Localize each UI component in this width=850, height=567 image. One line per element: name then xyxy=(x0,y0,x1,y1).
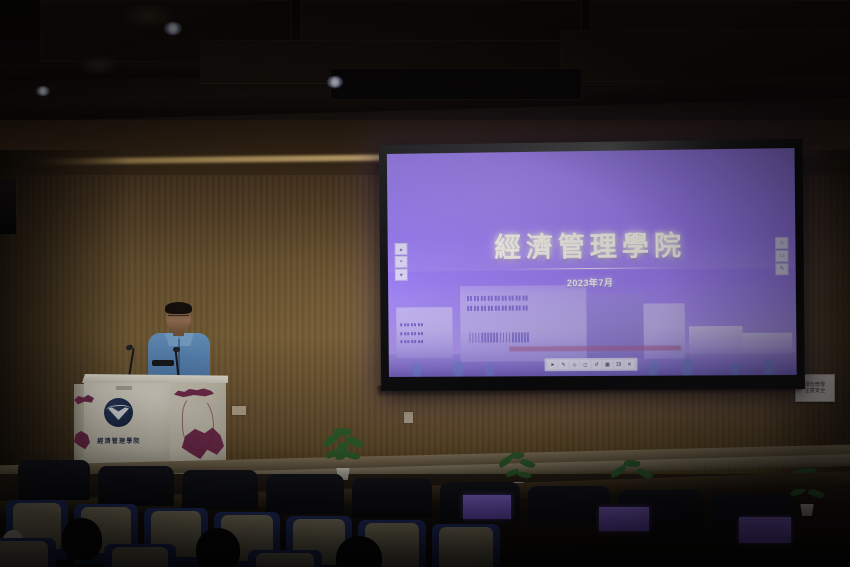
eagle-emblem-icon xyxy=(104,398,133,427)
seat-cushion xyxy=(256,553,314,567)
seat[interactable] xyxy=(98,466,174,506)
wall-sign-line1: 請勿倚靠 xyxy=(805,383,826,388)
seat-cushion xyxy=(112,547,168,567)
pointer-tool[interactable]: ➤ xyxy=(548,360,558,369)
annotation-toolbar[interactable]: ➤ ✎ ◇ ◻ ↺ ▦ 19 ✕ xyxy=(545,358,638,372)
seat-cushion xyxy=(439,527,493,567)
seat[interactable] xyxy=(182,470,258,510)
ceiling-recess xyxy=(330,68,582,100)
undo-tool[interactable]: ↺ xyxy=(591,360,601,369)
home-button[interactable]: ⌂ xyxy=(775,237,788,249)
slide-right-controls[interactable]: ⌂ ▭ ✎ xyxy=(775,237,789,275)
screen-button[interactable]: ▭ xyxy=(775,250,788,262)
podium-org-name: 經濟管理學院 xyxy=(88,436,150,445)
ceiling-light-2 xyxy=(36,86,50,96)
ceiling-light-3 xyxy=(327,76,343,88)
slide-left-controls[interactable]: ▴ ▪ ▾ xyxy=(395,243,408,281)
seat[interactable] xyxy=(266,474,344,514)
seat[interactable] xyxy=(248,550,322,567)
ceiling-vent xyxy=(78,56,118,74)
wall-speaker xyxy=(0,178,17,234)
podium-plaque xyxy=(116,386,132,390)
pen-tool[interactable]: ✎ xyxy=(558,360,568,369)
auditorium-photo: 請勿倚靠 注意安全 xyxy=(0,0,850,567)
seat[interactable] xyxy=(104,544,176,567)
grid-tool[interactable]: ▦ xyxy=(602,360,612,369)
glasses-icon xyxy=(168,315,189,321)
close-tool[interactable]: ✕ xyxy=(624,360,634,369)
podium: 經濟管理學院 xyxy=(74,374,226,466)
page-tool[interactable]: 19 xyxy=(613,360,623,369)
seat[interactable] xyxy=(0,538,56,567)
menu-down-button[interactable]: ▾ xyxy=(395,269,408,281)
desk-monitor[interactable] xyxy=(738,516,792,544)
podium-top xyxy=(82,374,228,383)
seat[interactable] xyxy=(432,524,500,567)
seat[interactable] xyxy=(352,478,432,518)
menu-up-button[interactable]: ▴ xyxy=(395,243,408,255)
wall-switch[interactable] xyxy=(404,412,413,423)
seat-cushion xyxy=(0,541,48,567)
wall-sign-line2: 注意安全 xyxy=(805,389,826,394)
menu-mid-button[interactable]: ▪ xyxy=(395,256,408,268)
audience-head xyxy=(196,528,240,567)
audience-head xyxy=(62,518,102,560)
wall-outlet[interactable] xyxy=(232,406,246,415)
ceiling-light-1 xyxy=(164,22,182,35)
ceiling-panel xyxy=(560,30,850,82)
podium-mic-base xyxy=(152,360,174,366)
plant-pot xyxy=(799,504,815,516)
presentation-screen[interactable]: 經濟管理學院 2023年7月 ▴ ▪ ▾ ⌂ ▭ ✎ ➤ ✎ ◇ ◻ ↺ xyxy=(379,139,805,391)
speaker-hair xyxy=(165,302,192,314)
note-button[interactable]: ✎ xyxy=(775,263,788,275)
seat[interactable] xyxy=(18,460,90,500)
potted-plant xyxy=(320,428,366,480)
desk-monitor[interactable] xyxy=(598,506,650,532)
slide-content: 經濟管理學院 2023年7月 ▴ ▪ ▾ ⌂ ▭ ✎ ➤ ✎ ◇ ◻ ↺ xyxy=(387,148,797,377)
microphone-head xyxy=(173,347,180,352)
eraser-tool[interactable]: ◻ xyxy=(580,360,590,369)
highlight-tool[interactable]: ◇ xyxy=(569,360,579,369)
desk-monitor[interactable] xyxy=(462,494,512,520)
slide-title: 經濟管理學院 xyxy=(388,223,796,266)
